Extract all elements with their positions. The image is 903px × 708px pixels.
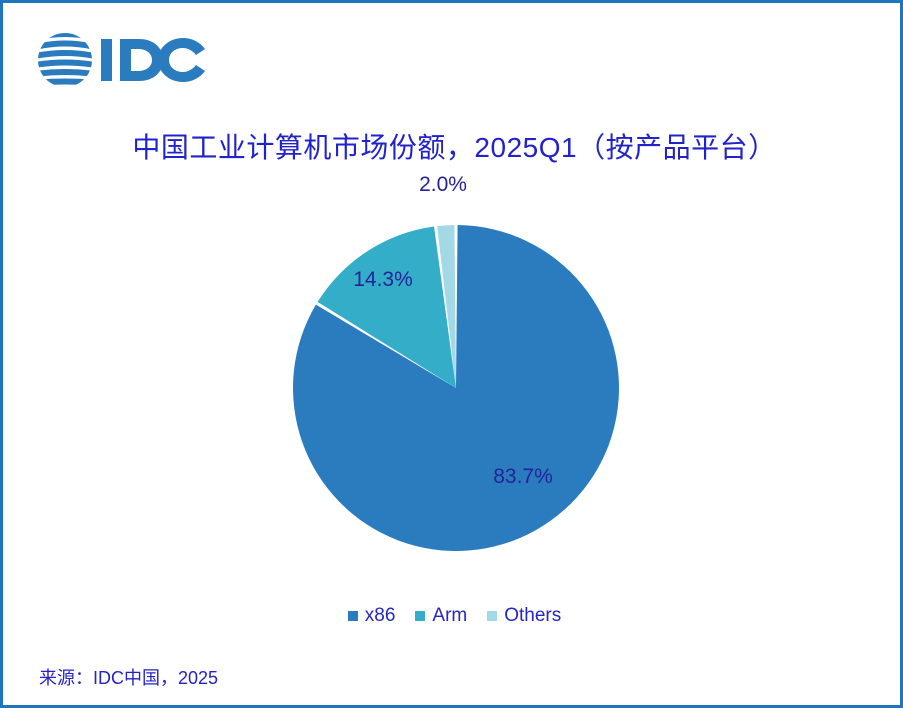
legend-swatch-icon	[487, 611, 497, 621]
pie-chart: 83.7% 14.3% 2.0%	[273, 193, 653, 573]
idc-logo	[37, 29, 207, 91]
idc-logo-svg	[37, 29, 207, 91]
pie-slice-label-x86: 83.7%	[478, 465, 568, 489]
pie-slice-label-others: 2.0%	[398, 173, 488, 197]
source-note: 来源：IDC中国，2025	[39, 664, 218, 690]
page-title: 中国工业计算机市场份额，2025Q1（按产品平台）	[3, 126, 903, 166]
slide-canvas: 中国工业计算机市场份额，2025Q1（按产品平台） 83.7% 14.3% 2.…	[0, 0, 903, 708]
legend-swatch-icon	[348, 611, 358, 621]
chart-legend: x86 Arm Others	[3, 606, 903, 625]
legend-item-arm[interactable]: Arm	[415, 606, 467, 625]
legend-item-others[interactable]: Others	[487, 606, 561, 625]
idc-wordmark	[101, 38, 205, 82]
legend-item-label: Others	[504, 606, 561, 625]
legend-item-label: Arm	[432, 606, 467, 625]
pie-slice-label-arm: 14.3%	[338, 268, 428, 292]
legend-swatch-icon	[415, 611, 425, 621]
legend-item-label: x86	[365, 606, 396, 625]
legend-item-x86[interactable]: x86	[348, 606, 396, 625]
pie-chart-svg	[273, 193, 653, 573]
globe-icon	[37, 31, 95, 86]
